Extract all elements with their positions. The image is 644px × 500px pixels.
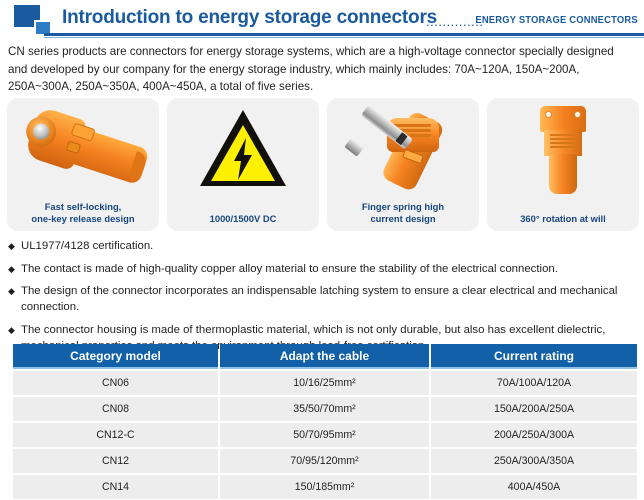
cell-current: 150A/200A/250A xyxy=(431,397,637,421)
header-section-kicker: ENERGY STORAGE CONNECTORS xyxy=(476,15,638,26)
diamond-bullet-icon: ◆ xyxy=(8,322,15,338)
cell-model: CN14 xyxy=(13,475,218,499)
feature-card-label-line2: current design xyxy=(370,213,435,224)
feature-card-finger-spring: Finger spring high current design xyxy=(327,98,479,231)
cell-model: CN08 xyxy=(13,397,218,421)
table-row: CN06 10/16/25mm² 70A/100A/120A xyxy=(13,371,637,395)
feature-card-self-locking: Fast self-locking, one-key release desig… xyxy=(7,98,159,231)
page-title: Introduction to energy storage connector… xyxy=(62,7,437,29)
logo-icon xyxy=(14,5,58,35)
cell-current: 250A/300A/350A xyxy=(431,449,637,473)
feature-card-label: Finger spring high current design xyxy=(331,201,475,225)
cell-cable: 50/70/95mm² xyxy=(220,423,429,447)
cell-cable: 70/95/120mm² xyxy=(220,449,429,473)
high-voltage-hazard-triangle-icon xyxy=(167,102,319,194)
header-rule-thin xyxy=(44,37,644,38)
feature-card-label-line1: 360° rotation at will xyxy=(520,213,606,224)
feature-card-label-line1: Finger spring high xyxy=(362,201,444,212)
page-header: Introduction to energy storage connector… xyxy=(0,0,644,38)
table-row: CN12 70/95/120mm² 250A/300A/350A xyxy=(13,449,637,473)
bullet-text: The design of the connector incorporates… xyxy=(21,285,617,313)
intro-paragraph: CN series products are connectors for en… xyxy=(8,43,636,96)
feature-card-label: 1000/1500V DC xyxy=(171,213,315,225)
cell-model: CN12-C xyxy=(13,423,218,447)
lightning-bolt-icon xyxy=(232,138,254,180)
specification-table: Category model Adapt the cable Current r… xyxy=(11,342,639,500)
bullet-item: ◆ UL1977/4128 certification. xyxy=(8,238,638,254)
cell-cable: 150/185mm² xyxy=(220,475,429,499)
cell-current: 400A/450A xyxy=(431,475,637,499)
feature-card-label-line2: one-key release design xyxy=(31,213,134,224)
cell-cable: 35/50/70mm² xyxy=(220,397,429,421)
bullet-item: ◆ The contact is made of high-quality co… xyxy=(8,261,638,277)
table-row: CN12-C 50/70/95mm² 200A/250A/300A xyxy=(13,423,637,447)
feature-card-voltage: 1000/1500V DC xyxy=(167,98,319,231)
table-row: CN08 35/50/70mm² 150A/200A/250A xyxy=(13,397,637,421)
header-rule-thick xyxy=(44,33,644,36)
diamond-bullet-icon: ◆ xyxy=(8,283,15,299)
feature-card-label: 360° rotation at will xyxy=(491,213,635,225)
feature-card-list: Fast self-locking, one-key release desig… xyxy=(7,98,639,231)
cell-current: 200A/250A/300A xyxy=(431,423,637,447)
table-header-current-rating: Current rating xyxy=(431,344,637,369)
table-header-row: Category model Adapt the cable Current r… xyxy=(13,344,637,369)
bullet-text: The contact is made of high-quality copp… xyxy=(21,263,558,275)
feature-card-label: Fast self-locking, one-key release desig… xyxy=(11,201,155,225)
bullet-item: ◆ The design of the connector incorporat… xyxy=(8,283,638,315)
cell-cable: 10/16/25mm² xyxy=(220,371,429,395)
diamond-bullet-icon: ◆ xyxy=(8,261,15,277)
cell-model: CN06 xyxy=(13,371,218,395)
bullet-text: UL1977/4128 certification. xyxy=(21,240,153,252)
orange-right-angle-connector-icon xyxy=(327,102,479,194)
feature-card-rotation: 360° rotation at will xyxy=(487,98,639,231)
feature-card-label-line1: 1000/1500V DC xyxy=(210,213,277,224)
cell-model: CN12 xyxy=(13,449,218,473)
feature-card-label-line1: Fast self-locking, xyxy=(45,201,122,212)
diamond-bullet-icon: ◆ xyxy=(8,238,15,254)
orange-inline-connector-icon xyxy=(7,102,159,194)
page-root: Introduction to energy storage connector… xyxy=(0,0,644,500)
table-header-adapt-the-cable: Adapt the cable xyxy=(220,344,429,369)
cell-current: 70A/100A/120A xyxy=(431,371,637,395)
orange-vertical-panel-connector-icon xyxy=(487,102,639,194)
table-row: CN14 150/185mm² 400A/450A xyxy=(13,475,637,499)
logo-square-small xyxy=(34,20,50,34)
table-header-category-model: Category model xyxy=(13,344,218,369)
